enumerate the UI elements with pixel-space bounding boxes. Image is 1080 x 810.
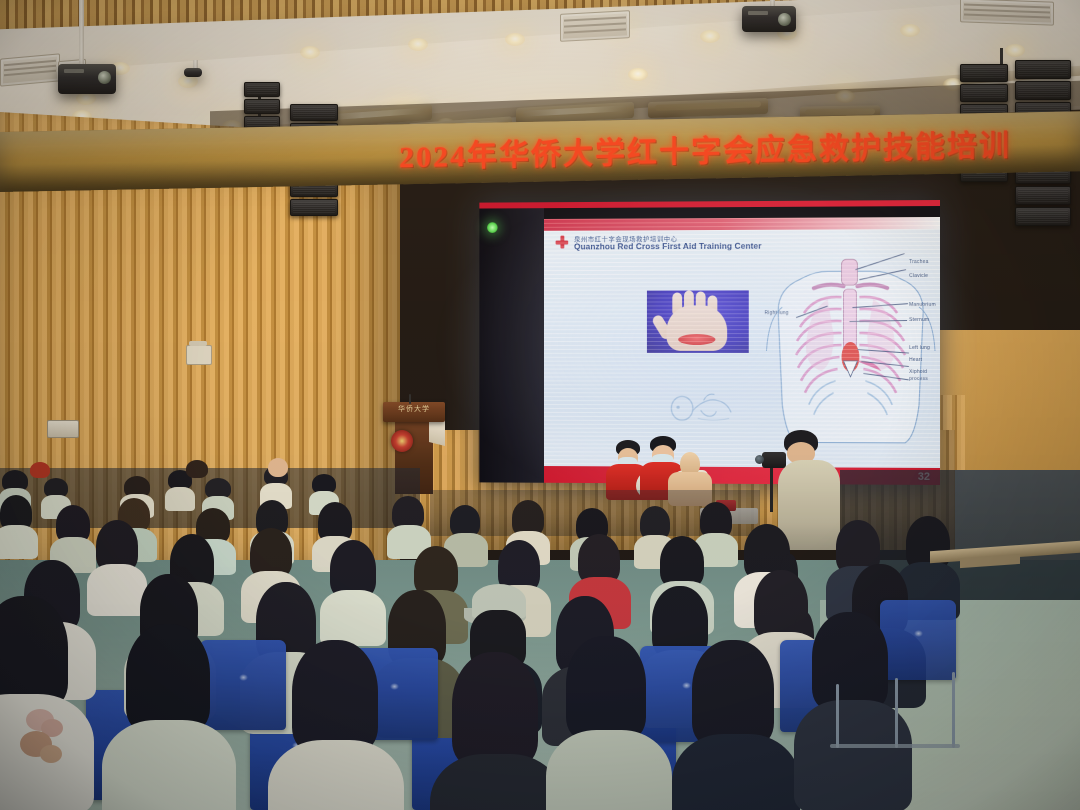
slide-org-name-en: Quanzhou Red Cross First Aid Training Ce… xyxy=(574,241,762,252)
screen-top-accent xyxy=(479,200,940,209)
ceiling-downlight xyxy=(900,24,920,37)
ceiling-downlight xyxy=(505,33,525,46)
speaker-cabinet xyxy=(290,199,338,216)
chair-leg xyxy=(895,678,898,748)
projector-vent xyxy=(748,11,768,15)
camera-support-pole xyxy=(770,466,773,512)
podium-microphone xyxy=(409,394,411,404)
speaker-cabinet xyxy=(1015,207,1071,226)
wall-intercom[interactable] xyxy=(186,345,212,365)
projector-lens xyxy=(778,13,791,26)
video-camera xyxy=(762,452,786,468)
anatomy-label-heart: Heart xyxy=(909,357,922,363)
university-emblem xyxy=(391,430,413,452)
speaker-cabinet xyxy=(1015,186,1071,205)
slide-header-bar xyxy=(544,217,940,231)
ceiling-ac-vent xyxy=(0,53,60,86)
speaker-cabinet xyxy=(1015,60,1071,79)
ceiling-sensor xyxy=(184,68,202,77)
wall-outlet[interactable] xyxy=(47,420,79,438)
screen-dark-margin xyxy=(479,208,544,483)
ceiling-downlight xyxy=(300,46,320,59)
chair-crossbar xyxy=(830,744,960,748)
anatomy-label-clavicle: Clavicle xyxy=(909,273,928,279)
tshirt-graphic xyxy=(18,706,76,768)
projector-vent xyxy=(64,69,84,73)
audience-chair[interactable] xyxy=(880,600,956,680)
status-led-icon xyxy=(487,222,498,233)
ceiling-projector xyxy=(58,64,116,94)
podium-nameplate: 华侨大学 xyxy=(389,404,439,414)
speaker-cabinet xyxy=(290,104,338,121)
ceiling-downlight xyxy=(628,68,648,81)
anatomy-label-manubrium: Manubrium xyxy=(909,302,936,308)
ceiling-downlight xyxy=(1005,44,1025,57)
speaker-cabinet xyxy=(1015,81,1071,100)
podium-desktop: 华侨大学 xyxy=(383,402,445,422)
anatomy-label-left-lung: Left lung xyxy=(909,345,930,351)
anatomy-label-sternum: Sternum xyxy=(909,317,929,323)
ceiling-downlight xyxy=(408,38,428,51)
ceiling-projector xyxy=(742,6,796,32)
speaker-cabinet xyxy=(244,82,280,97)
projection-screen: 泉州市红十字会现场救护培训中心 Quanzhou Red Cross First… xyxy=(479,200,940,485)
anatomy-label-xiphoid-2: process xyxy=(909,376,928,382)
infant-cpr-illustration xyxy=(668,388,739,424)
anatomy-label-trachea: Trachea xyxy=(909,259,928,265)
speaker-cabinet xyxy=(960,64,1008,82)
lecture-hall-photo: 2024年华侨大学红十字会应急救护技能培训 泉州市红十字会现场救护培训中心 Qu… xyxy=(0,0,1080,810)
chair-leg xyxy=(836,684,839,748)
projector-lens xyxy=(98,71,111,84)
ceiling-ac-vent xyxy=(560,10,630,42)
red-cross-icon xyxy=(556,236,569,249)
presentation-slide: 泉州市红十字会现场救护培训中心 Quanzhou Red Cross First… xyxy=(544,217,940,485)
projector-mount-pole xyxy=(79,0,84,66)
audience-chair[interactable] xyxy=(200,640,286,730)
speaker-cabinet xyxy=(960,84,1008,102)
torso xyxy=(778,460,840,550)
hand-compression-panel xyxy=(647,290,749,353)
chair-leg xyxy=(952,672,955,748)
ceiling-downlight xyxy=(700,30,720,43)
anatomy-label-right-lung: Right lung xyxy=(765,310,789,316)
compression-point-marker xyxy=(678,334,715,345)
ceiling-ac-vent xyxy=(960,0,1054,26)
anatomy-label-xiphoid: Xiphoid xyxy=(909,369,927,375)
speaker-cabinet xyxy=(244,99,280,114)
